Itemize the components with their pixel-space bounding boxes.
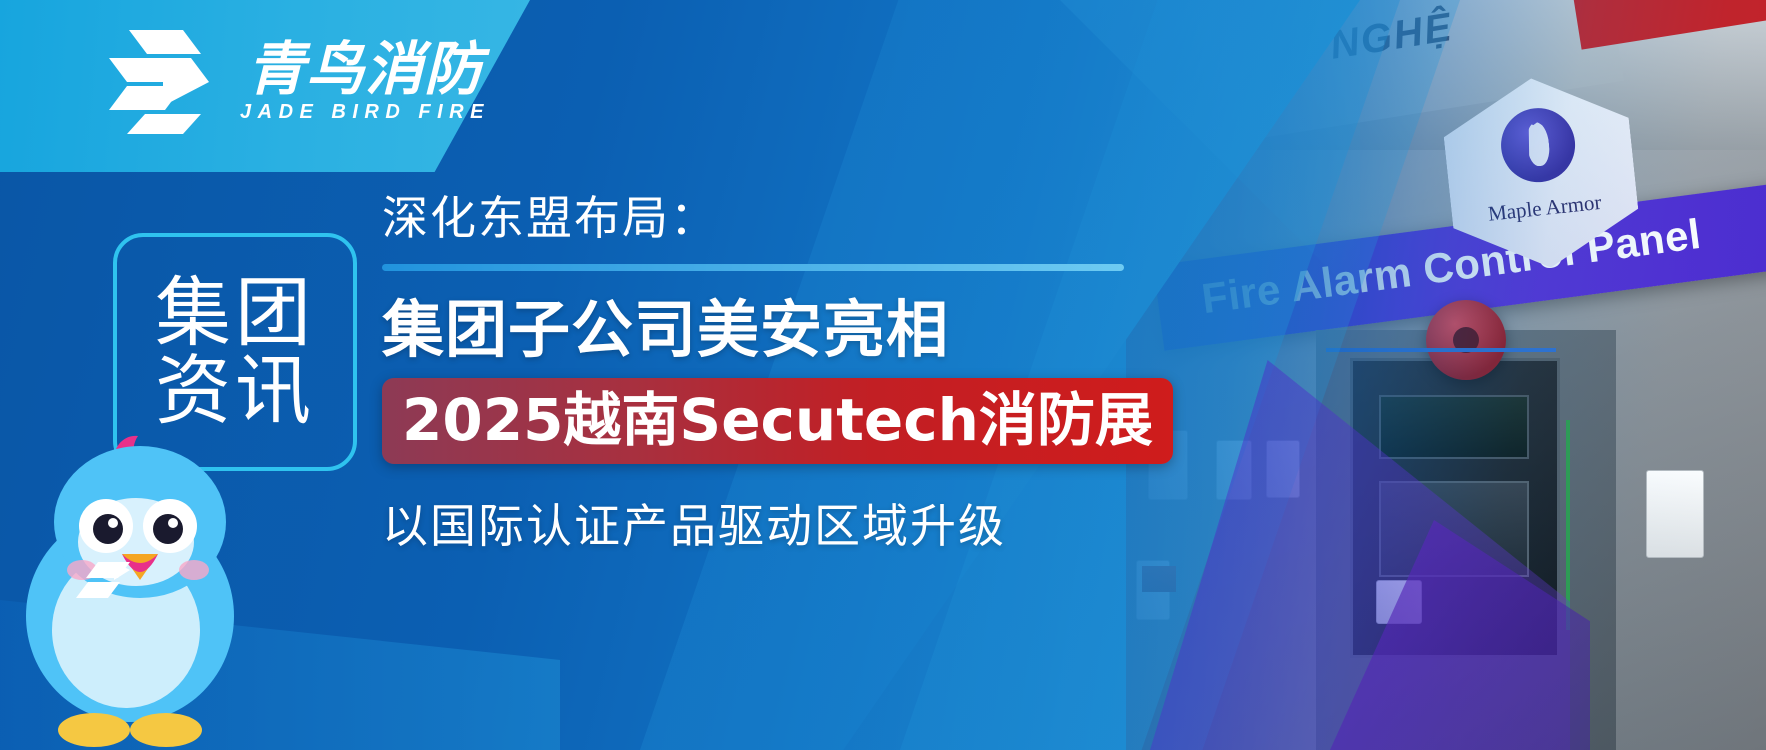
- highlight-band: 2025越南Secutech消防展: [382, 378, 1173, 464]
- text-block: 深化东盟布局： 集团子公司美安亮相 2025越南Secutech消防展 以国际认…: [382, 190, 1152, 556]
- brand-name-cn: 青鸟消防: [247, 40, 483, 98]
- promo-banner: PHẦN CÔNG NGHỆ Fire Alarm Control Panel …: [0, 0, 1766, 750]
- jade-bird-chevron-mark-icon: [105, 28, 220, 136]
- category-badge-line-2: 资讯: [155, 352, 315, 430]
- brand-name-en: JADE BIRD FIRE: [240, 101, 490, 124]
- jade-bird-mascot-icon: [18, 430, 268, 750]
- headline-text: 集团子公司美安亮相: [382, 295, 1152, 364]
- highlight-text: 2025越南Secutech消防展: [402, 386, 1153, 454]
- kicker-text: 深化东盟布局：: [382, 190, 1152, 248]
- divider-rule: [382, 264, 1124, 271]
- brand-wordmark: 青鸟消防 JADE BIRD FIRE: [240, 40, 490, 124]
- category-badge-text: 集团 资讯: [155, 274, 315, 429]
- brand-logo: 青鸟消防 JADE BIRD FIRE: [105, 28, 490, 136]
- category-badge-line-1: 集团: [155, 274, 315, 352]
- tagline-text: 以国际认证产品驱动区域升级: [382, 490, 1152, 556]
